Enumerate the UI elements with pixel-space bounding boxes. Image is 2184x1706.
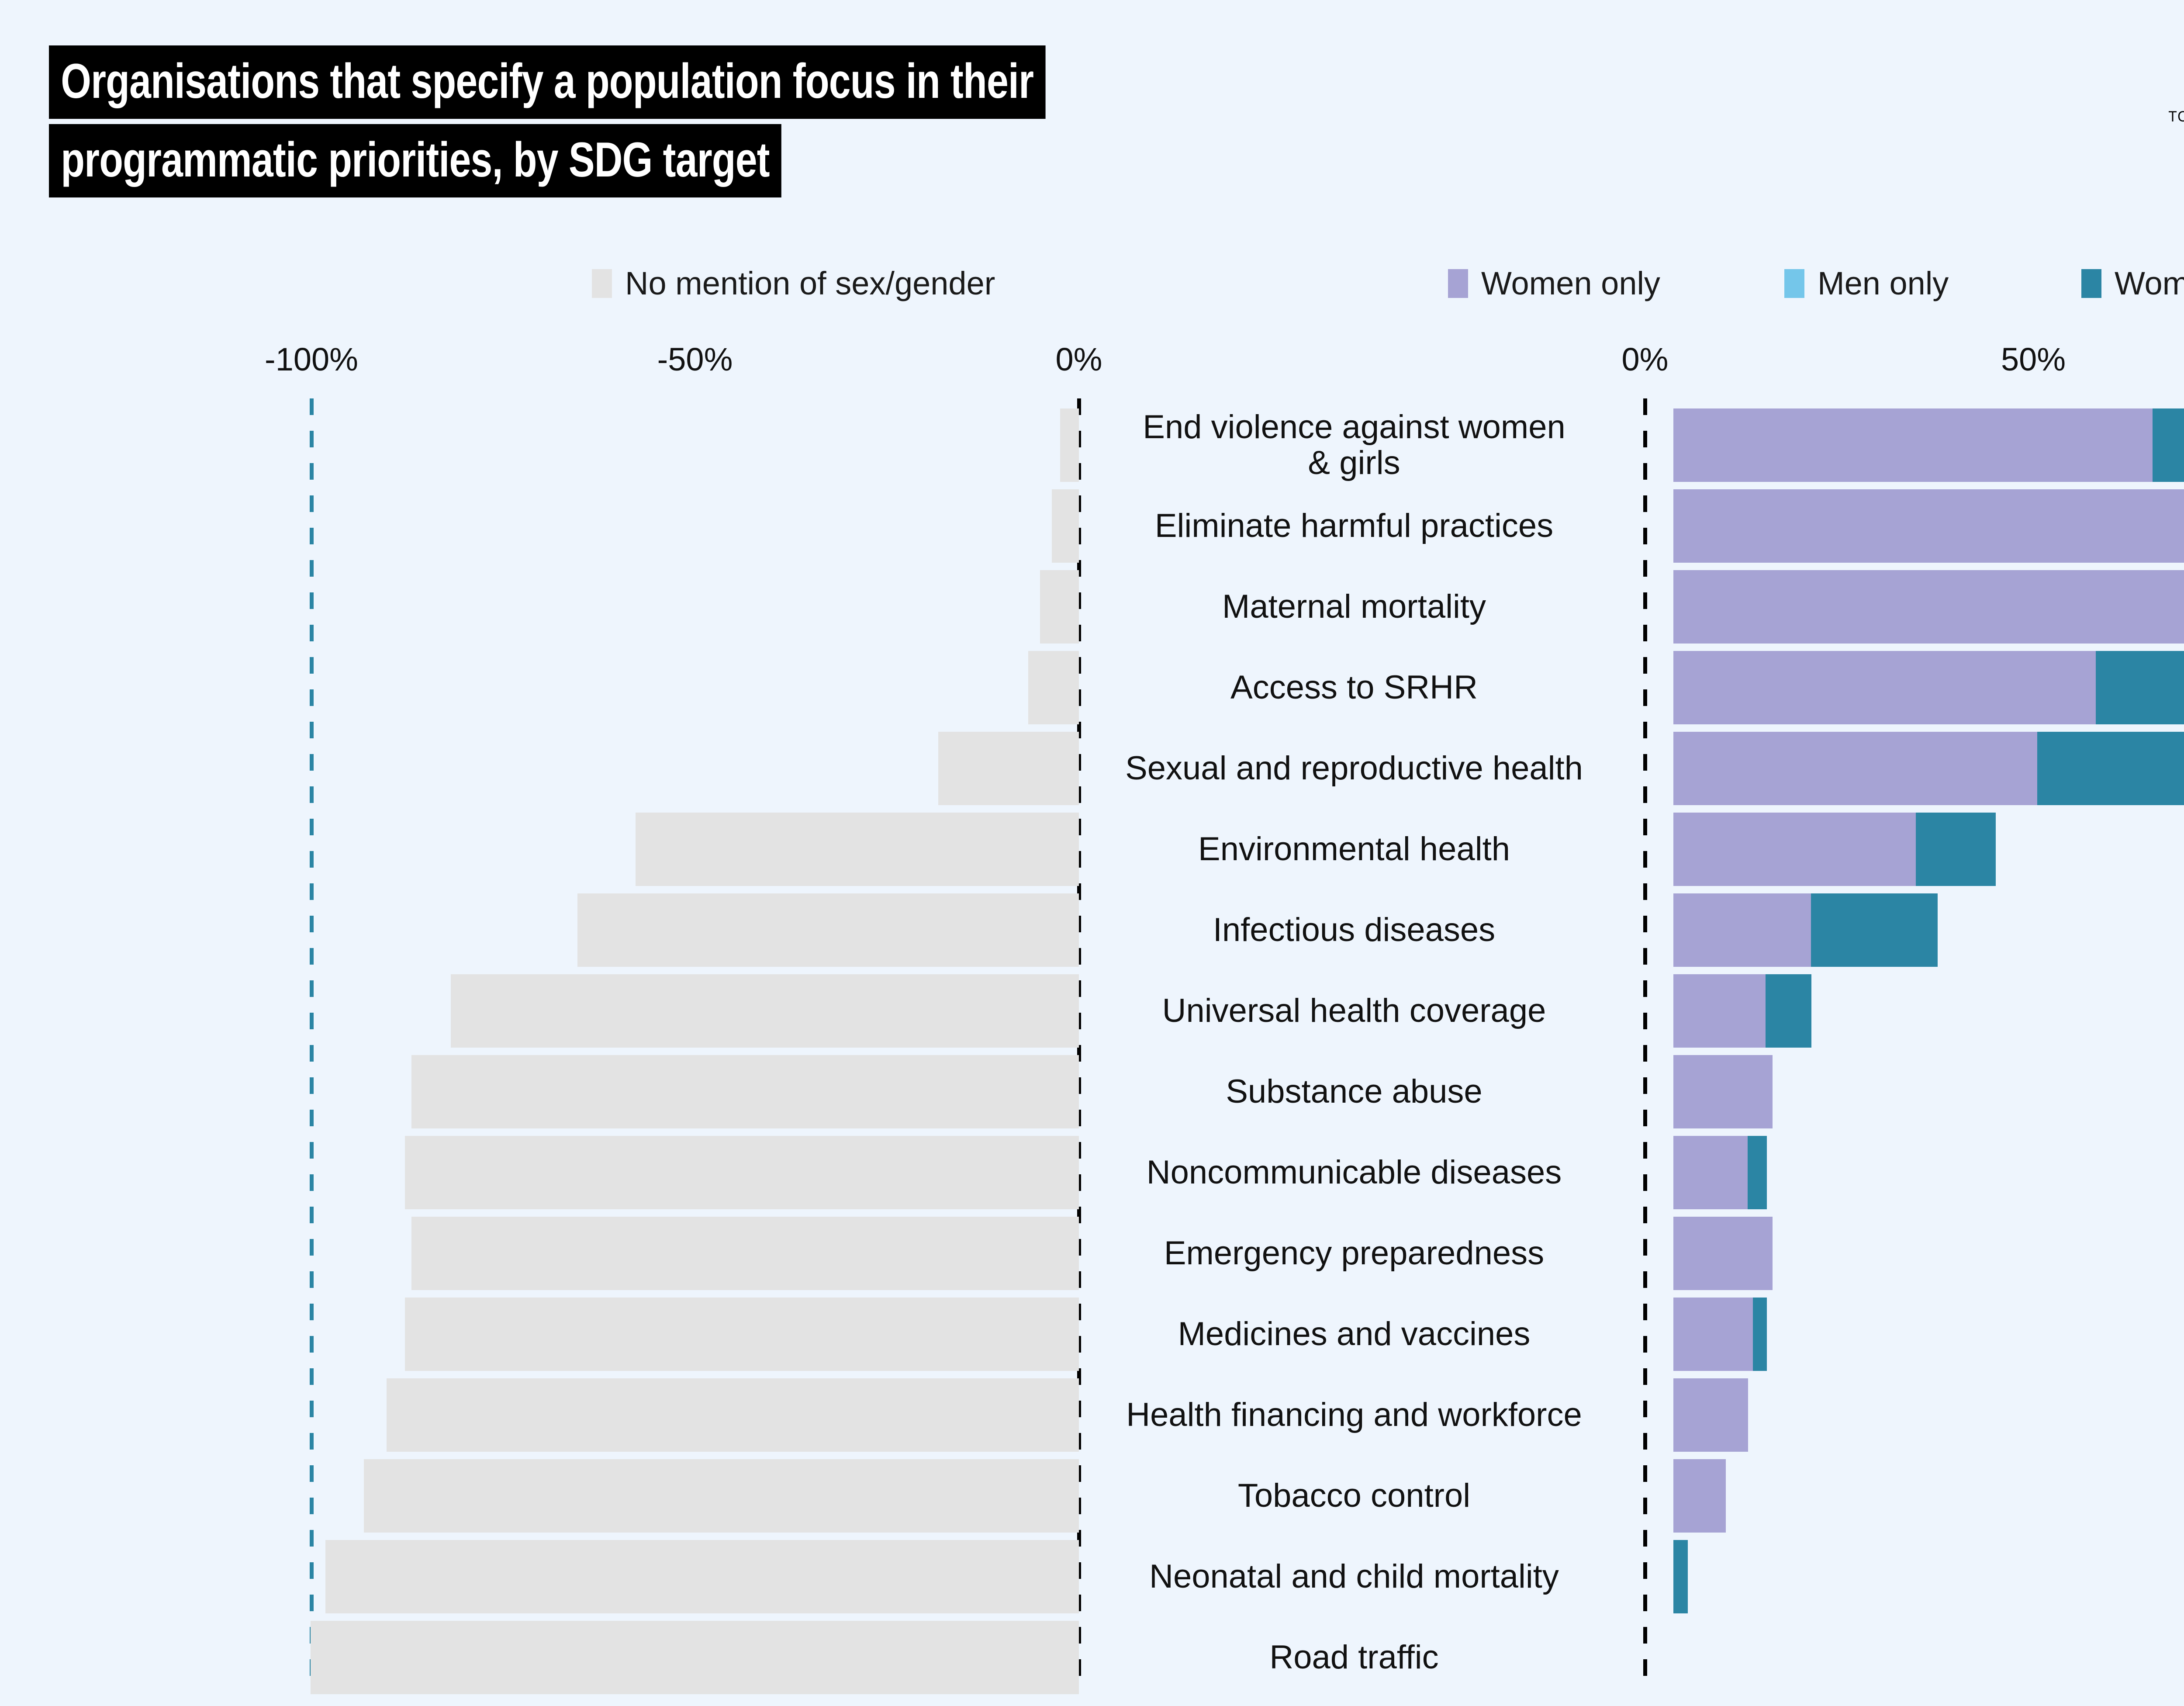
bar-segment-women-only[interactable] — [1673, 893, 1811, 967]
logo-words: GLOBAL HEALTH — [2177, 34, 2184, 102]
bar-segment-women-only[interactable] — [1673, 570, 2184, 644]
legend-swatch-women_and_men — [2081, 269, 2101, 298]
legend-label-men_only: Men only — [1818, 267, 1949, 300]
chart-row[interactable]: Infectious diseases — [0, 893, 2184, 967]
legend-item-women_and_men[interactable]: Women and men — [2081, 267, 2184, 300]
page-header: Organisations that specify a population … — [0, 0, 2184, 227]
bar-segment-no-mention[interactable] — [411, 1217, 1079, 1290]
logo-wordmark: GLOBAL HEALTH 5050 — [2144, 34, 2184, 102]
bar-segment-no-mention[interactable] — [938, 732, 1079, 805]
legend-label-no_mention: No mention of sex/gender — [625, 267, 995, 300]
category-label: Road traffic — [1070, 1640, 1638, 1675]
chart-row[interactable]: Substance abuse — [0, 1055, 2184, 1128]
bar-segment-women-only[interactable] — [1673, 651, 2096, 724]
category-label: End violence against women & girls — [1070, 409, 1638, 481]
bar-segment-women-only[interactable] — [1673, 1136, 1748, 1209]
category-label: Environmental health — [1070, 831, 1638, 867]
legend-item-men_only[interactable]: Men only — [1784, 267, 1949, 300]
bar-segment-no-mention[interactable] — [364, 1459, 1079, 1533]
legend-swatch-women_only — [1448, 269, 1468, 298]
logo-tagline: TOWARDS GENDER EQUALITY IN GLOBAL HEALTH — [2169, 108, 2184, 125]
global-health-5050-logo: GLOBAL HEALTH 5050 TOWARDS GENDER EQUALI… — [2144, 34, 2184, 125]
right-axis-tick-50pct: 50% — [1972, 341, 2094, 378]
legend-swatch-no_mention — [592, 269, 612, 298]
chart-row[interactable]: Eliminate harmful practices — [0, 489, 2184, 563]
category-label: Neonatal and child mortality — [1070, 1559, 1638, 1595]
chart-row[interactable]: Tobacco control — [0, 1459, 2184, 1533]
chart-row[interactable]: Emergency preparedness — [0, 1217, 2184, 1290]
bar-segment-women-only[interactable] — [1673, 1298, 1753, 1371]
chart-row[interactable]: Noncommunicable diseases — [0, 1136, 2184, 1209]
bar-segment-women-only[interactable] — [1673, 1217, 1773, 1290]
chart-row[interactable]: Health financing and workforce — [0, 1378, 2184, 1452]
category-label: Noncommunicable diseases — [1070, 1155, 1638, 1190]
bar-segment-women-only[interactable] — [1673, 1378, 1748, 1452]
bar-segment-women-only[interactable] — [1673, 813, 1916, 886]
right-axis-tick-0pct: 0% — [1584, 341, 1706, 378]
legend-label-women_and_men: Women and men — [2115, 267, 2184, 300]
page-title-line-2: programmatic priorities, by SDG target — [49, 124, 781, 197]
bar-segment-no-mention[interactable] — [405, 1298, 1079, 1371]
category-label: Substance abuse — [1070, 1074, 1638, 1110]
bar-segment-women-only[interactable] — [1673, 1055, 1773, 1128]
bar-segment-no-mention[interactable] — [387, 1378, 1079, 1452]
bar-segment-women-and-men[interactable] — [2096, 651, 2184, 724]
chart-row[interactable]: Neonatal and child mortality — [0, 1540, 2184, 1613]
bar-segment-no-mention[interactable] — [405, 1136, 1079, 1209]
bar-segment-women-and-men[interactable] — [2037, 732, 2184, 805]
legend-item-no_mention[interactable]: No mention of sex/gender — [592, 267, 995, 300]
bar-segment-no-mention[interactable] — [577, 893, 1079, 967]
category-label: Access to SRHR — [1070, 670, 1638, 706]
bar-segment-no-mention[interactable] — [325, 1540, 1079, 1613]
bar-segment-women-and-men[interactable] — [2153, 408, 2184, 482]
page-title-line-1: Organisations that specify a population … — [49, 45, 1045, 119]
bar-segment-women-only[interactable] — [1673, 732, 2037, 805]
left-axis-tick-neg100pct: -100% — [250, 341, 373, 378]
chart-legend: No mention of sex/genderWomen onlyMen on… — [0, 267, 2184, 315]
bar-segment-women-only[interactable] — [1673, 974, 1766, 1048]
chart-row[interactable]: Universal health coverage — [0, 974, 2184, 1048]
bar-segment-women-only[interactable] — [1673, 408, 2153, 482]
chart-row[interactable]: Access to SRHR — [0, 651, 2184, 724]
category-label: Tobacco control — [1070, 1478, 1638, 1514]
bar-segment-women-only[interactable] — [1673, 489, 2184, 563]
bar-segment-no-mention[interactable] — [636, 813, 1079, 886]
chart-row[interactable]: Environmental health — [0, 813, 2184, 886]
chart-row[interactable]: End violence against women & girls — [0, 408, 2184, 482]
category-label: Emergency preparedness — [1070, 1235, 1638, 1271]
chart-row[interactable]: Road traffic — [0, 1621, 2184, 1694]
chart-row[interactable]: Sexual and reproductive health — [0, 732, 2184, 805]
left-axis-tick-0pct: 0% — [1018, 341, 1140, 378]
bar-segment-women-and-men[interactable] — [1916, 813, 1996, 886]
bar-segment-no-mention[interactable] — [451, 974, 1079, 1048]
bar-segment-women-and-men[interactable] — [1748, 1136, 1767, 1209]
category-label: Universal health coverage — [1070, 993, 1638, 1029]
category-label: Health financing and workforce — [1070, 1397, 1638, 1433]
category-label: Eliminate harmful practices — [1070, 508, 1638, 544]
category-label: Maternal mortality — [1070, 589, 1638, 625]
bar-segment-women-only[interactable] — [1673, 1459, 1726, 1533]
chart-row[interactable]: Maternal mortality — [0, 570, 2184, 644]
legend-label-women_only: Women only — [1481, 267, 1660, 300]
bar-segment-women-and-men[interactable] — [1811, 893, 1938, 967]
chart-row[interactable]: Medicines and vaccines — [0, 1298, 2184, 1371]
legend-swatch-men_only — [1784, 269, 1804, 298]
bar-segment-no-mention[interactable] — [411, 1055, 1079, 1128]
bar-segment-women-and-men[interactable] — [1766, 974, 1811, 1048]
bar-segment-no-mention[interactable] — [311, 1621, 1079, 1694]
bar-segment-women-and-men[interactable] — [1753, 1298, 1767, 1371]
legend-item-women_only[interactable]: Women only — [1448, 267, 1660, 300]
chart-plot-area: -100%-50%0%0%50%100%End violence against… — [0, 341, 2184, 1706]
category-label: Infectious diseases — [1070, 912, 1638, 948]
left-axis-tick-neg50pct: -50% — [634, 341, 756, 378]
category-label: Medicines and vaccines — [1070, 1316, 1638, 1352]
bar-segment-women-and-men[interactable] — [1673, 1540, 1688, 1613]
category-label: Sexual and reproductive health — [1070, 751, 1638, 786]
